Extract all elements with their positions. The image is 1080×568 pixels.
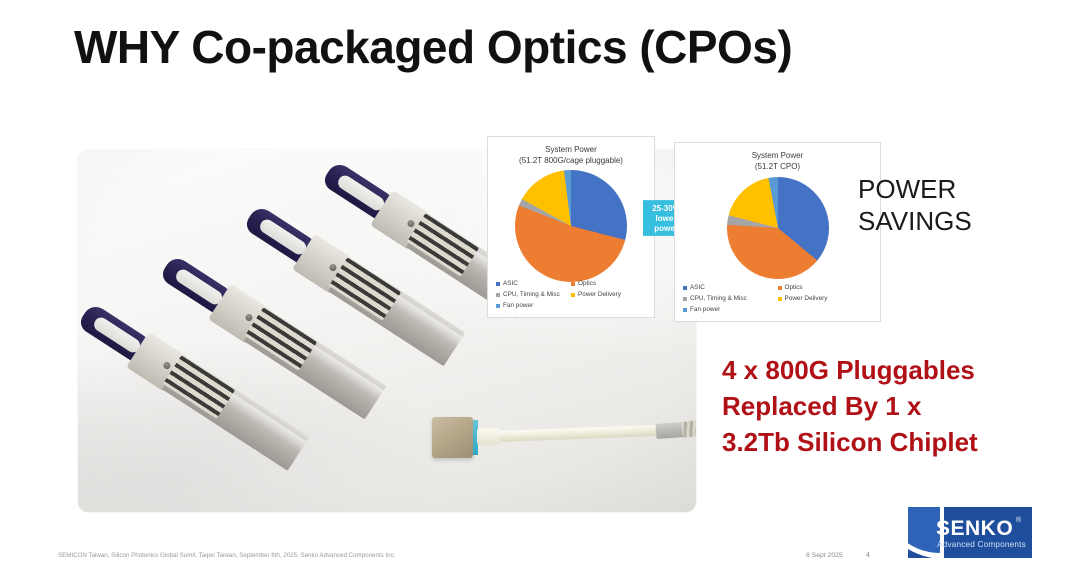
senko-logo: SENKO ® Advanced Components: [908, 507, 1032, 558]
legend-swatch-icon: [683, 286, 687, 290]
chart-subtitle: (51.2T 800G/cage pluggable): [488, 155, 654, 166]
legend-item: Fan power: [683, 304, 872, 315]
chart-title-main: System Power: [545, 145, 597, 154]
legend-label: Fan power: [503, 300, 533, 311]
legend-item: Optics: [571, 278, 646, 289]
legend-swatch-icon: [571, 293, 575, 297]
legend-label: ASIC: [690, 282, 705, 293]
legend-label: Optics: [578, 278, 596, 289]
legend-label: Fan power: [690, 304, 720, 315]
logo-wordmark: SENKO: [936, 517, 1013, 541]
footer-page-number: 4: [866, 552, 870, 559]
power-savings-label: POWER SAVINGS: [858, 173, 972, 237]
footer-citation: SEMICON Taiwan, Silicon Photonics Global…: [58, 552, 395, 559]
key-statement: 4 x 800G Pluggables Replaced By 1 x 3.2T…: [722, 352, 1022, 460]
chart-legend-cpo: ASICOpticsCPU, Timing & MiscPower Delive…: [675, 282, 880, 315]
legend-label: Optics: [785, 282, 803, 293]
chart-title-cpo: System Power (51.2T CPO): [675, 143, 880, 172]
pie-wrap-cpo: [675, 172, 880, 279]
chart-legend-pluggable: ASICOpticsCPU, Timing & MiscPower Delive…: [488, 278, 654, 311]
legend-item: CPU, Timing & Misc: [683, 293, 778, 304]
chart-card-pluggable: System Power (51.2T 800G/cage pluggable)…: [487, 136, 655, 318]
legend-swatch-icon: [496, 282, 500, 286]
legend-swatch-icon: [778, 297, 782, 301]
legend-item: ASIC: [683, 282, 778, 293]
logo-tagline: Advanced Components: [937, 540, 1026, 549]
legend-item: ASIC: [496, 278, 571, 289]
chart-title-main: System Power: [752, 151, 804, 160]
chart-subtitle: (51.2T CPO): [675, 161, 880, 172]
legend-label: CPU, Timing & Misc: [690, 293, 747, 304]
power-savings-line1: POWER: [858, 173, 972, 205]
legend-label: CPU, Timing & Misc: [503, 289, 560, 300]
pie-chart-cpo: [727, 177, 829, 279]
page-title: WHY Co-packaged Optics (CPOs): [74, 20, 792, 74]
legend-swatch-icon: [683, 308, 687, 312]
power-savings-line2: SAVINGS: [858, 205, 972, 237]
chart-card-cpo: System Power (51.2T CPO) ASICOpticsCPU, …: [674, 142, 881, 322]
legend-swatch-icon: [496, 293, 500, 297]
legend-item: Power Delivery: [778, 293, 873, 304]
legend-item: CPU, Timing & Misc: [496, 289, 571, 300]
chart-title-pluggable: System Power (51.2T 800G/cage pluggable): [488, 137, 654, 166]
legend-item: Fan power: [496, 300, 646, 311]
pie-wrap-pluggable: [488, 166, 654, 282]
key-statement-line3: 3.2Tb Silicon Chiplet: [722, 424, 1022, 460]
legend-label: ASIC: [503, 278, 518, 289]
legend-swatch-icon: [683, 297, 687, 301]
legend-swatch-icon: [496, 304, 500, 308]
key-statement-line1: 4 x 800G Pluggables: [722, 352, 1022, 388]
legend-item: Optics: [778, 282, 873, 293]
legend-label: Power Delivery: [785, 293, 828, 304]
logo-registered-mark: ®: [1016, 517, 1021, 524]
legend-item: Power Delivery: [571, 289, 646, 300]
slide: WHY Co-packaged Optics (CPOs): [0, 0, 1080, 568]
legend-swatch-icon: [778, 286, 782, 290]
legend-swatch-icon: [571, 282, 575, 286]
pie-chart-pluggable: [515, 170, 627, 282]
legend-label: Power Delivery: [578, 289, 621, 300]
key-statement-line2: Replaced By 1 x: [722, 388, 1022, 424]
footer-date: 8 Sept 2025: [806, 552, 843, 559]
